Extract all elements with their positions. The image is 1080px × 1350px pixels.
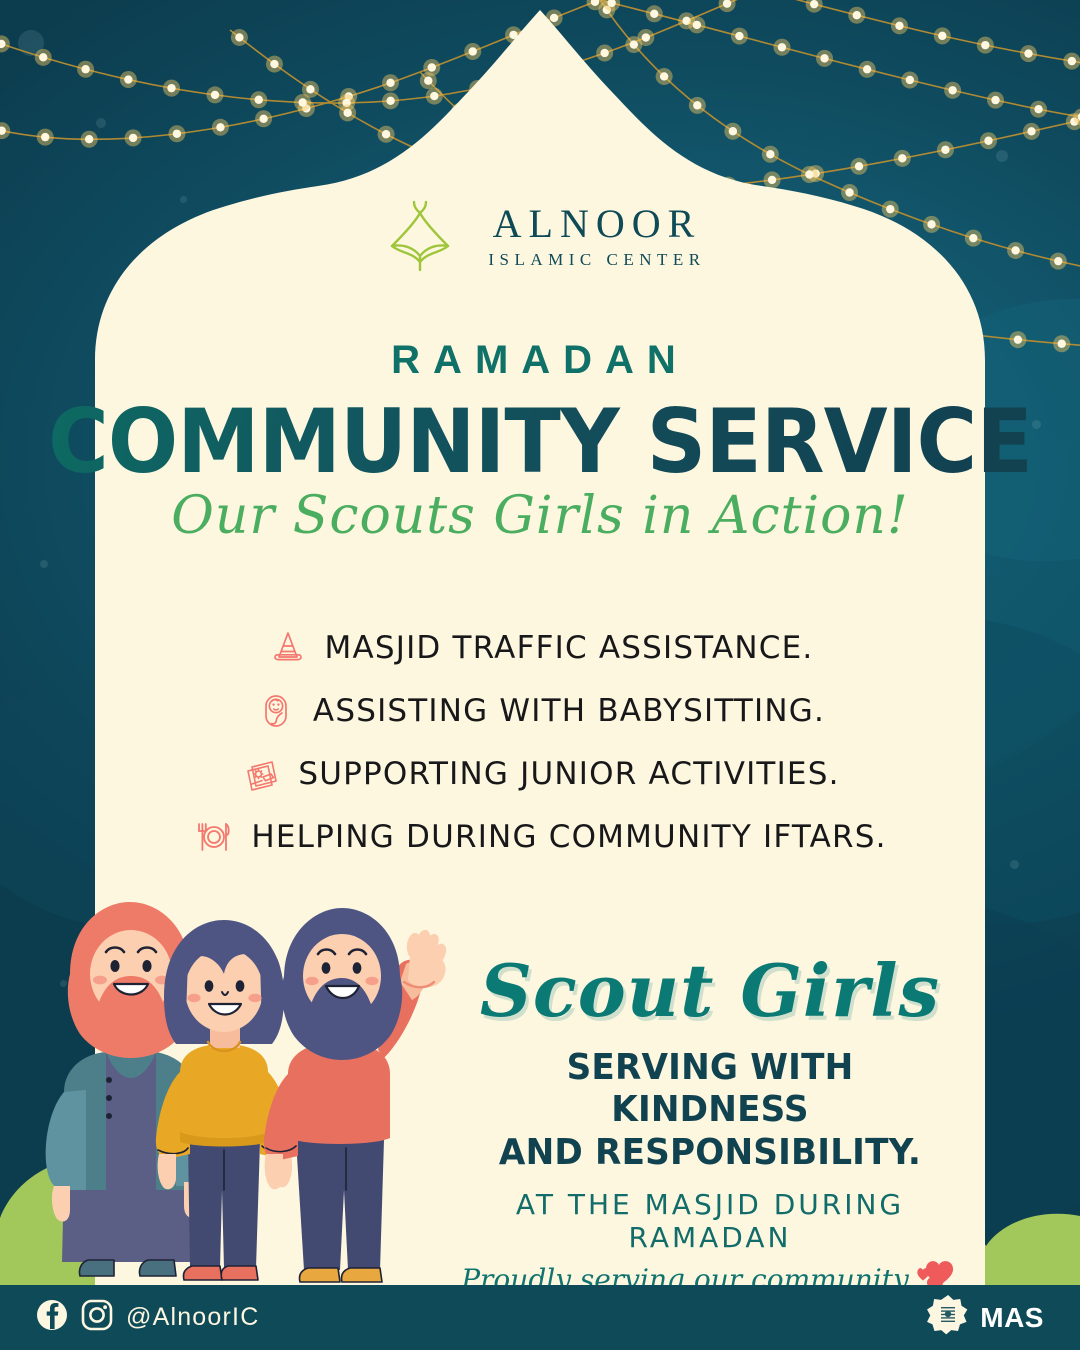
traffic-cone-icon <box>267 627 309 669</box>
list-item-label: SUPPORTING JUNIOR ACTIVITIES. <box>298 756 839 792</box>
service-list: MASJID TRAFFIC ASSISTANCE. <box>0 620 1080 872</box>
mas-label: MAS <box>980 1302 1044 1334</box>
plate-cutlery-icon <box>193 816 235 858</box>
list-item: ASSISTING WITH BABYSITTING. <box>0 683 1080 739</box>
eyebrow-ramadan: RAMADAN <box>0 338 1080 383</box>
serving-line-2: AND RESPONSIBILITY. <box>468 1132 953 1174</box>
script-subtitle: Our Scouts Girls in Action! <box>0 486 1080 546</box>
logo-subtitle: ISLAMIC CENTER <box>488 251 705 268</box>
social-handle: @AlnoorIC <box>126 1303 259 1332</box>
list-item-label: MASJID TRAFFIC ASSISTANCE. <box>325 630 814 666</box>
craft-drawing-icon <box>240 753 282 795</box>
poster-content: ALNOOR ISLAMIC CENTER RAMADAN COMMUNITY … <box>0 0 1080 1300</box>
alnoor-mosque-book-icon <box>374 196 466 276</box>
logo-name: ALNOOR <box>493 204 702 244</box>
footer-bar: @AlnoorIC MAS <box>0 1285 1080 1350</box>
facebook-icon[interactable] <box>36 1299 68 1336</box>
list-item: HELPING DURING COMMUNITY IFTARS. <box>0 809 1080 865</box>
swaddled-baby-icon <box>255 690 297 732</box>
list-item-label: HELPING DURING COMMUNITY IFTARS. <box>251 819 886 855</box>
brand-logo: ALNOOR ISLAMIC CENTER <box>0 196 1080 276</box>
serving-line-1: SERVING WITH KINDNESS <box>468 1047 953 1132</box>
scout-girls-script-title: Scout Girls <box>455 955 965 1027</box>
list-item: SUPPORTING JUNIOR ACTIVITIES. <box>0 746 1080 802</box>
mas-star-logo-icon <box>927 1294 969 1341</box>
scout-girls-block: Scout Girls SERVING WITH KINDNESS AND RE… <box>455 955 965 1299</box>
instagram-icon[interactable] <box>81 1299 113 1336</box>
poster-canvas: ALNOOR ISLAMIC CENTER RAMADAN COMMUNITY … <box>0 0 1080 1350</box>
at-masjid-line: AT THE MASJID DURING RAMADAN <box>455 1188 965 1254</box>
three-scout-girls-illustration <box>28 890 458 1302</box>
page-title: COMMUNITY SERVICE <box>32 390 1047 493</box>
list-item: MASJID TRAFFIC ASSISTANCE. <box>0 620 1080 676</box>
list-item-label: ASSISTING WITH BABYSITTING. <box>313 693 825 729</box>
